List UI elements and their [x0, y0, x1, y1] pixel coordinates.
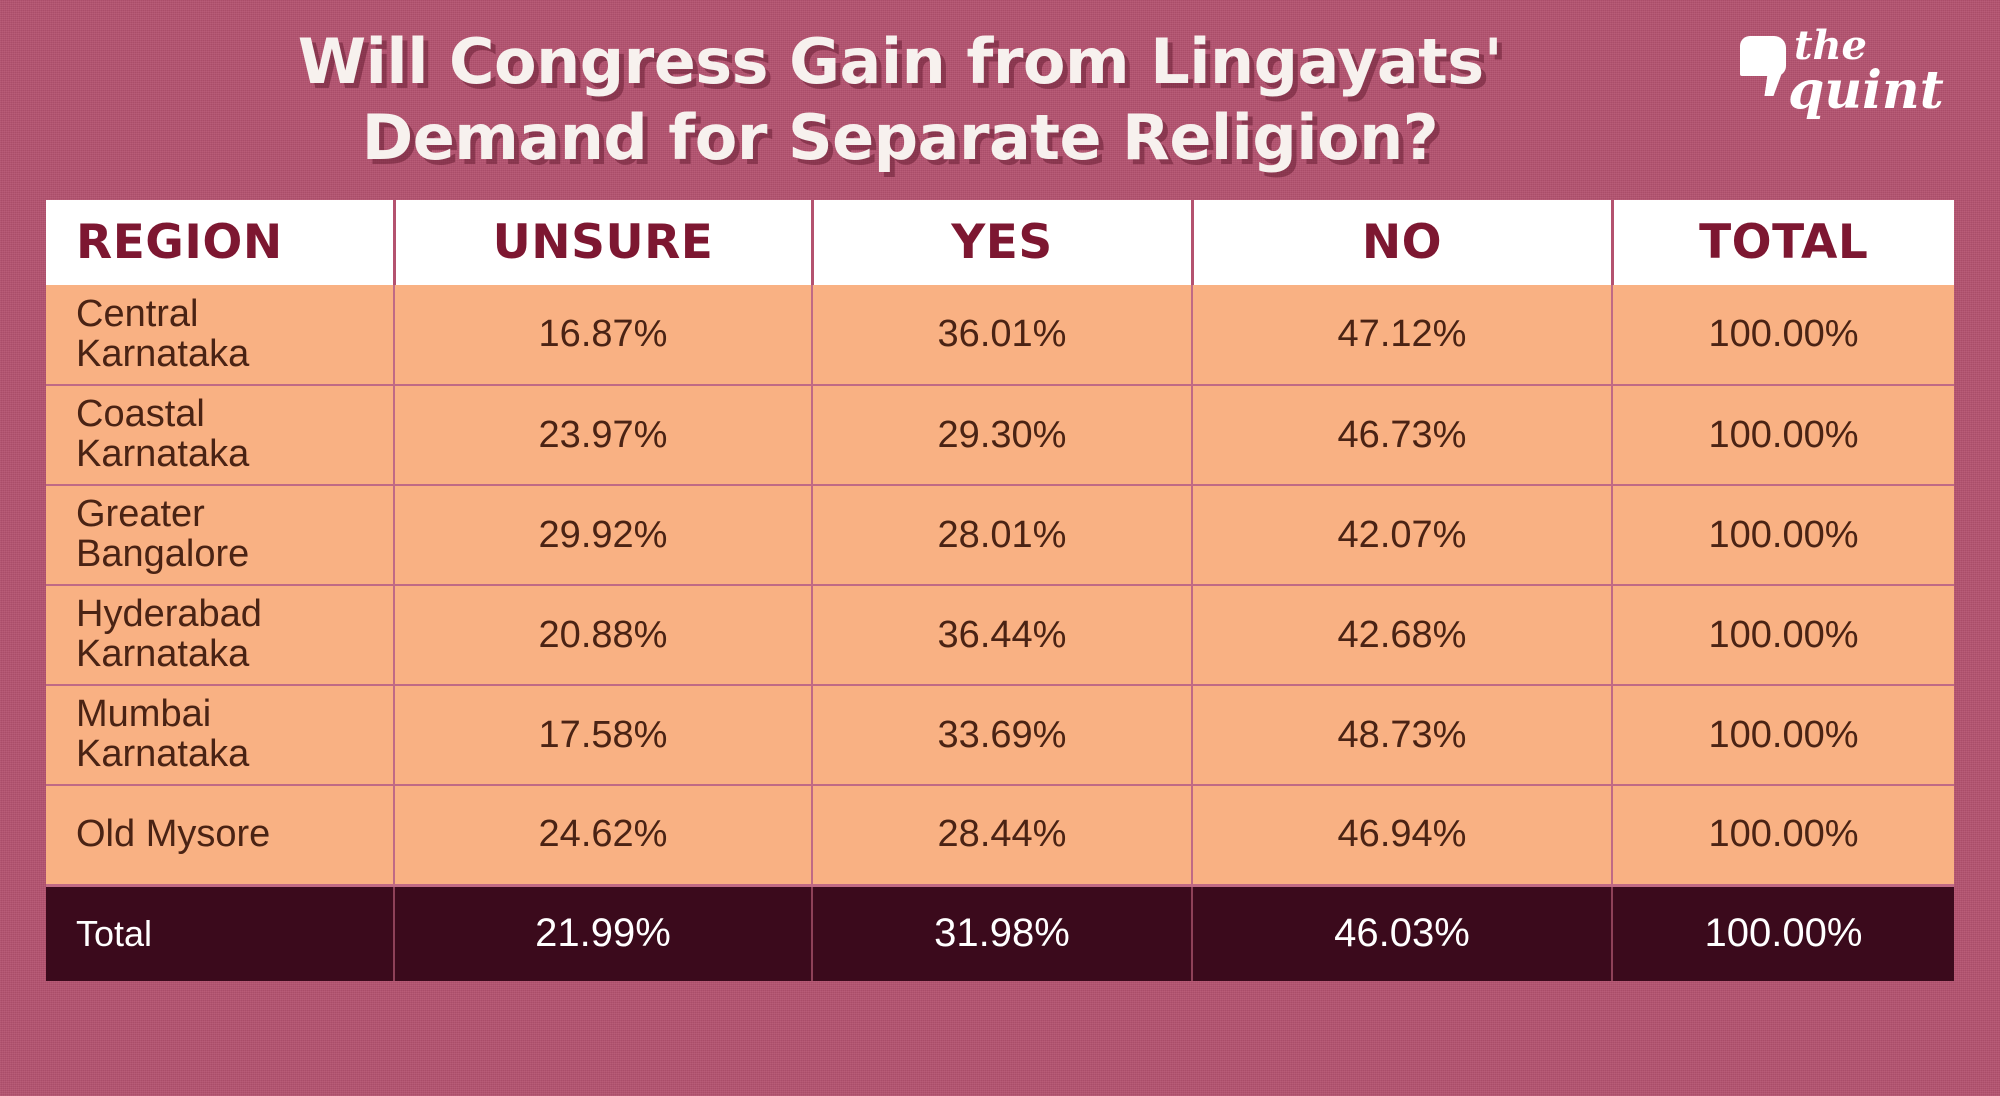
- page-header: Will Congress Gain from Lingayats' Deman…: [0, 0, 2000, 200]
- cell-region: Central Karnataka: [46, 285, 394, 385]
- cell-yes: 28.01%: [812, 485, 1192, 585]
- cell-region: Greater Bangalore: [46, 485, 394, 585]
- table-row: Central Karnataka 16.87% 36.01% 47.12% 1…: [46, 285, 1954, 385]
- cell-region: Old Mysore: [46, 785, 394, 885]
- logo-word-quint: quint: [1788, 67, 1944, 115]
- cell-yes: 33.69%: [812, 685, 1192, 785]
- cell-region: Mumbai Karnataka: [46, 685, 394, 785]
- speech-bubble-icon: [1740, 36, 1786, 76]
- region-name-line-1: Greater: [76, 495, 383, 535]
- cell-total: 100.00%: [1612, 285, 1954, 385]
- cell-no: 42.68%: [1192, 585, 1612, 685]
- region-name-line-1: Mumbai: [76, 695, 383, 735]
- cell-region: Coastal Karnataka: [46, 385, 394, 485]
- cell-total: 100.00%: [1612, 585, 1954, 685]
- table-row: Greater Bangalore 29.92% 28.01% 42.07% 1…: [46, 485, 1954, 585]
- column-header-unsure: UNSURE: [394, 200, 812, 285]
- cell-unsure: 17.58%: [394, 685, 812, 785]
- region-name-line-2: Karnataka: [76, 335, 383, 375]
- cell-unsure-total: 21.99%: [394, 885, 812, 981]
- region-name-line-2: Karnataka: [76, 635, 383, 675]
- cell-no-total: 46.03%: [1192, 885, 1612, 981]
- cell-unsure: 16.87%: [394, 285, 812, 385]
- cell-no: 47.12%: [1192, 285, 1612, 385]
- table-header-row: REGION UNSURE YES NO TOTAL: [46, 200, 1954, 285]
- cell-total: 100.00%: [1612, 485, 1954, 585]
- cell-total: 100.00%: [1612, 385, 1954, 485]
- table-total-row: Total 21.99% 31.98% 46.03% 100.00%: [46, 885, 1954, 981]
- cell-no: 46.94%: [1192, 785, 1612, 885]
- table-row: Old Mysore 24.62% 28.44% 46.94% 100.00%: [46, 785, 1954, 885]
- logo-wordmark: the quint: [1794, 28, 1944, 115]
- table-row: Coastal Karnataka 23.97% 29.30% 46.73% 1…: [46, 385, 1954, 485]
- cell-total: 100.00%: [1612, 685, 1954, 785]
- cell-yes: 29.30%: [812, 385, 1192, 485]
- column-header-no: NO: [1192, 200, 1612, 285]
- cell-unsure: 20.88%: [394, 585, 812, 685]
- region-name-line-2: Karnataka: [76, 735, 383, 775]
- page-title-line-1: Will Congress Gain from Lingayats': [120, 24, 1680, 100]
- cell-unsure: 24.62%: [394, 785, 812, 885]
- region-name-line-2: Bangalore: [76, 535, 383, 575]
- cell-region: Hyderabad Karnataka: [46, 585, 394, 685]
- region-name-line-1: Old Mysore: [76, 815, 383, 855]
- region-name-line-1: Central: [76, 295, 383, 335]
- cell-yes: 36.44%: [812, 585, 1192, 685]
- table-row: Mumbai Karnataka 17.58% 33.69% 48.73% 10…: [46, 685, 1954, 785]
- table-header: REGION UNSURE YES NO TOTAL: [46, 200, 1954, 285]
- cell-yes: 28.44%: [812, 785, 1192, 885]
- region-name-line-1: Hyderabad: [76, 595, 383, 635]
- poll-table-container: REGION UNSURE YES NO TOTAL Central Karna…: [46, 200, 1954, 981]
- poll-results-table: REGION UNSURE YES NO TOTAL Central Karna…: [46, 200, 1954, 981]
- page-title-line-2: Demand for Separate Religion?: [120, 100, 1680, 176]
- cell-unsure: 23.97%: [394, 385, 812, 485]
- page-title: Will Congress Gain from Lingayats' Deman…: [120, 24, 1680, 175]
- the-quint-logo[interactable]: the quint: [1732, 28, 1962, 118]
- cell-no: 48.73%: [1192, 685, 1612, 785]
- cell-region-total-label: Total: [46, 885, 394, 981]
- column-header-yes: YES: [812, 200, 1192, 285]
- column-header-region: REGION: [46, 200, 394, 285]
- table-row: Hyderabad Karnataka 20.88% 36.44% 42.68%…: [46, 585, 1954, 685]
- cell-unsure: 29.92%: [394, 485, 812, 585]
- cell-yes: 36.01%: [812, 285, 1192, 385]
- column-header-total: TOTAL: [1612, 200, 1954, 285]
- cell-no: 42.07%: [1192, 485, 1612, 585]
- cell-total-total: 100.00%: [1612, 885, 1954, 981]
- cell-no: 46.73%: [1192, 385, 1612, 485]
- region-name-line-2: Karnataka: [76, 435, 383, 475]
- cell-total: 100.00%: [1612, 785, 1954, 885]
- cell-yes-total: 31.98%: [812, 885, 1192, 981]
- table-body: Central Karnataka 16.87% 36.01% 47.12% 1…: [46, 285, 1954, 981]
- region-name-line-1: Coastal: [76, 395, 383, 435]
